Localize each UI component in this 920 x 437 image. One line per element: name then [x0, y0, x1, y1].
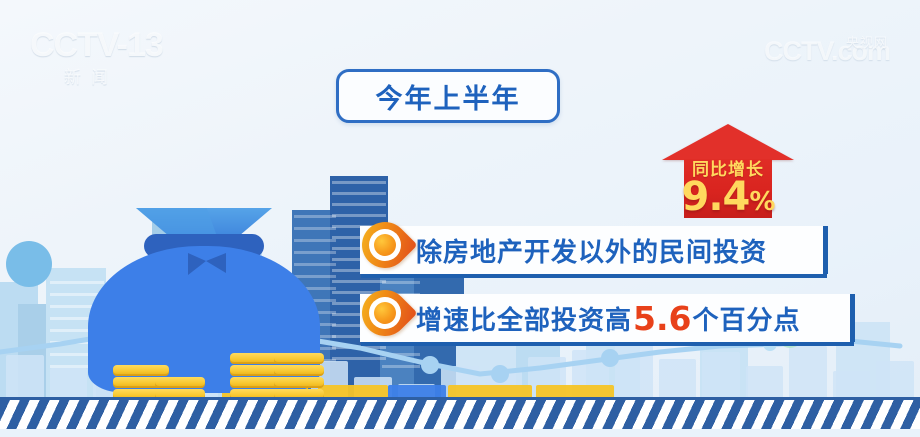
bag-tie-right: [206, 253, 226, 273]
info-bar-2-prefix: 增速比全部投资高: [416, 300, 632, 337]
info-bar-2-suffix: 个百分点: [692, 300, 800, 337]
info-bar-2-text: 增速比全部投资高5.6个百分点: [416, 294, 801, 342]
cctv-13-logo: CCTV-13 新闻: [30, 26, 163, 88]
bag-tie-left: [188, 253, 206, 275]
info-bar-1: 除房地产开发以外的民间投资: [360, 226, 828, 274]
growth-unit: %: [749, 187, 774, 217]
growth-number: 9.4: [682, 174, 750, 220]
info-bar-2-highlight: 5.6: [633, 299, 691, 338]
growth-badge: 同比增长 9.4%: [662, 124, 794, 218]
info-bar-2: 增速比全部投资高5.6个百分点: [360, 294, 855, 342]
footer-hazard-stripes: [0, 397, 920, 429]
page-title: 今年上半年: [336, 69, 560, 123]
growth-value: 9.4%: [662, 174, 794, 220]
cctv-13-channel: CCTV-13: [30, 26, 163, 65]
cctv-com-chinese: 央视网: [846, 32, 888, 51]
page-title-text: 今年上半年: [376, 77, 521, 116]
coin-stack: [274, 352, 324, 400]
map-pin-icon: [362, 222, 408, 280]
cctv-com-logo: 央视网 CCTV.com: [764, 36, 890, 67]
infographic-stage: CCTV-13 新闻 央视网 CCTV.com 今年上半年 同比增长 9.4% …: [0, 0, 920, 437]
footer-base: [0, 429, 920, 437]
map-pin-icon: [362, 290, 408, 348]
info-bar-1-text: 除房地产开发以外的民间投资: [416, 226, 767, 274]
cctv-13-subtitle: 新闻: [64, 63, 163, 88]
building-circle: [6, 241, 52, 287]
